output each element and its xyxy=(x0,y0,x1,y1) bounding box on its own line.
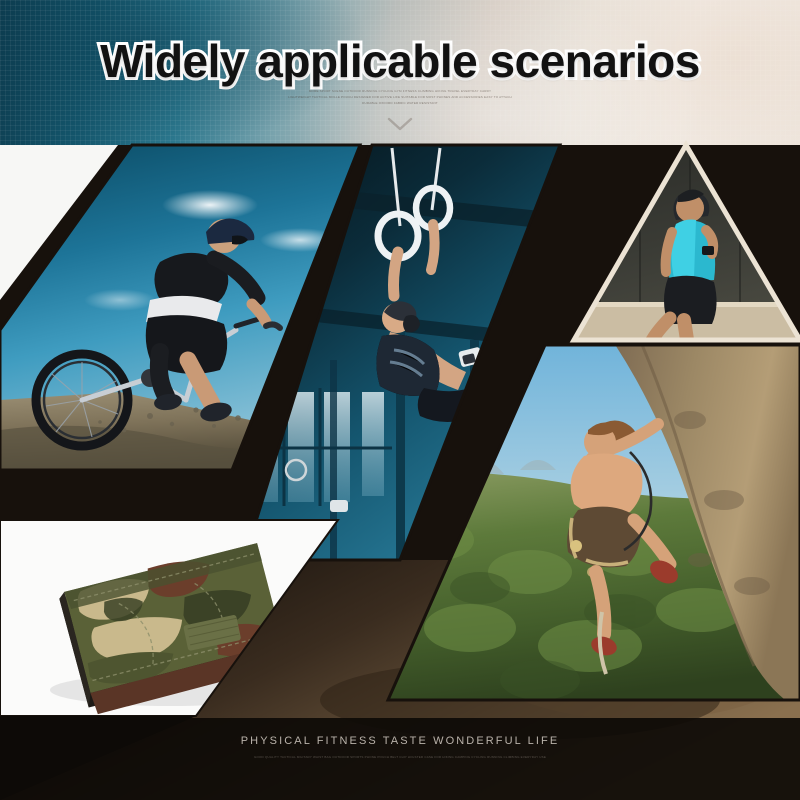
scenario-collage xyxy=(0,0,800,800)
footer-fine-print: GOOD QUALITY TACTICAL MILITARY WAIST BAG… xyxy=(140,755,660,760)
promo-poster: Widely applicable scenarios MORE SPORT S… xyxy=(0,0,800,800)
footer-caption: PHYSICAL FITNESS TASTE WONDERFUL LIFE xyxy=(0,735,800,747)
